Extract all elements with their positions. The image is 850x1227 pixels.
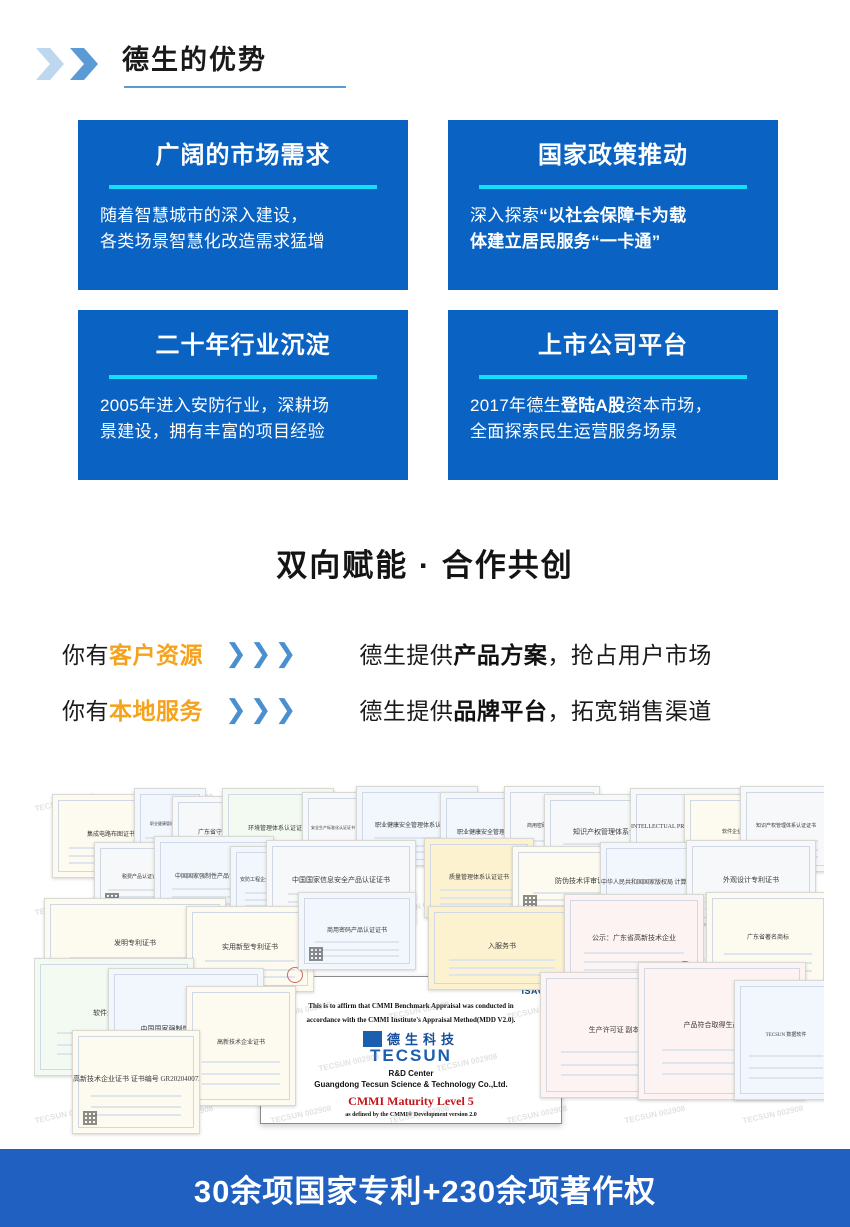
certificate-caption: 入服务书 xyxy=(429,941,575,951)
advantage-card-market-demand: 广阔的市场需求 随着智慧城市的深入建设， 各类场景智慧化改造需求猛增 xyxy=(78,120,408,290)
synergy-row-right: 德生提供产品方案，抢占用户市场 xyxy=(359,636,712,670)
synergy-left-prefix: 你有 xyxy=(62,642,109,668)
card-body-plain: 深入探索 xyxy=(470,206,539,225)
synergy-left-highlight: 客户资源 xyxy=(109,642,203,668)
certificate-caption: 实用新型专利证书 xyxy=(187,942,313,952)
advantage-card-listed-company: 上市公司平台 2017年德生登陆A股资本市场， 全面探索民生运营服务场景 xyxy=(448,310,778,480)
qr-code-icon xyxy=(309,947,323,961)
card-body-line: 各类场景智慧化改造需求猛增 xyxy=(100,229,386,255)
triple-chevron-icon: ❯❯❯ xyxy=(225,638,299,669)
card-divider xyxy=(109,375,377,379)
certificate-thumbnail: 商用密码产品认证证书 xyxy=(298,892,416,970)
certificate-text-line xyxy=(749,1067,822,1069)
arrow-glyph: ❯❯❯ xyxy=(225,638,299,669)
certificate-text-line xyxy=(440,903,518,905)
cmmi-unit: R&D Center xyxy=(270,1069,552,1078)
card-body-line: 2017年德生登陆A股资本市场， xyxy=(470,393,756,419)
certificate-caption: 高新技术企业证书 xyxy=(187,1037,295,1046)
synergy-right-suffix: ，拓宽销售渠道 xyxy=(547,698,712,724)
certificate-collage: 集成电路布图证书职业健康管理体系认证广东省守合同重信用企业环境管理体系认证证书安… xyxy=(34,780,824,1138)
certificate-thumbnail: 高新技术企业证书 证书编号 GR202040072 xyxy=(72,1030,200,1134)
certificate-text-line xyxy=(91,1114,182,1116)
synergy-right-prefix: 德生提供 xyxy=(359,698,453,724)
card-body-plain: 资本市场， xyxy=(625,396,712,415)
synergy-left-prefix: 你有 xyxy=(62,698,109,724)
watermark-text: TECSUN 002908 xyxy=(742,1104,804,1126)
synergy-row: 你有客户资源 ❯❯❯ 德生提供产品方案，抢占用户市场 xyxy=(0,625,850,681)
advantage-card-grid: 广阔的市场需求 随着智慧城市的深入建设， 各类场景智慧化改造需求猛增 国家政策推… xyxy=(78,120,778,480)
certificate-thumbnail: TECSUN 数据软件 xyxy=(734,980,824,1100)
chevron-right-light-icon xyxy=(36,46,66,82)
advantages-page: 德生的优势 广阔的市场需求 随着智慧城市的深入建设， 各类场景智慧化改造需求猛增… xyxy=(0,0,850,1227)
synergy-title: 双向赋能 · 合作共创 xyxy=(0,540,850,585)
certificate-text-line xyxy=(449,974,554,976)
page-title-wrap: 德生的优势 xyxy=(122,46,267,82)
certificate-text-line xyxy=(449,959,554,961)
certificate-text-line xyxy=(205,960,296,962)
certificate-caption: 商用密码产品认证证书 xyxy=(299,925,415,934)
card-body-emphasis: 登陆A股 xyxy=(561,396,625,415)
card-body-line: 深入探索“以社会保障卡为载 xyxy=(470,203,756,229)
card-title: 广阔的市场需求 xyxy=(156,142,331,170)
synergy-row-left: 你有客户资源 xyxy=(62,636,203,670)
certificate-caption: 广东省著名商标 xyxy=(707,932,824,941)
card-body-line: 景建设，拥有丰富的项目经验 xyxy=(100,419,386,445)
card-body-emphasis: “以社会保障卡为载 xyxy=(539,206,686,225)
tecsun-name-en: TECSUN xyxy=(270,1046,552,1066)
patent-banner-text: 30余项国家专利+230余项著作权 xyxy=(194,1166,656,1211)
certificate-caption: 外观设计专利证书 xyxy=(687,875,815,885)
card-divider xyxy=(109,185,377,189)
cmmi-as-defined: as defined by the CMMI® Development vers… xyxy=(270,1112,552,1118)
card-title: 国家政策推动 xyxy=(538,142,688,170)
cmmi-affirm-line-2: accordance with the CMMI Institute's App… xyxy=(270,1015,552,1025)
patent-banner: 30余项国家专利+230余项著作权 xyxy=(0,1149,850,1227)
certificate-text-line xyxy=(749,1077,822,1079)
certificate-text-line xyxy=(315,941,399,943)
synergy-right-prefix: 德生提供 xyxy=(359,642,453,668)
certificate-caption: 知识产权管理体系认证证书 xyxy=(741,822,824,829)
certificate-text-line xyxy=(584,952,683,954)
qr-code-icon xyxy=(83,1111,97,1125)
featured-certificate-cmmi: spid ISACA This is to affirm that CMMI B… xyxy=(260,976,562,1124)
advantage-card-national-policy: 国家政策推动 深入探索“以社会保障卡为载 体建立居民服务“一卡通” xyxy=(448,120,778,290)
certificate-caption: 安全生产标准化认证证书 xyxy=(303,825,363,831)
card-body: 深入探索“以社会保障卡为载 体建立居民服务“一卡通” xyxy=(470,203,756,256)
certificate-caption: 公示：广东省高新技术企业 xyxy=(565,933,703,943)
synergy-row-right: 德生提供品牌平台，拓宽销售渠道 xyxy=(359,692,712,726)
certificate-text-line xyxy=(202,1061,280,1063)
card-body-line: 随着智慧城市的深入建设， xyxy=(100,203,386,229)
card-body: 2017年德生登陆A股资本市场， 全面探索民生运营服务场景 xyxy=(470,393,756,446)
synergy-left-highlight: 本地服务 xyxy=(109,698,203,724)
watermark-text: TECSUN 002908 xyxy=(624,1104,686,1126)
card-body-line: 2005年进入安防行业，深耕场 xyxy=(100,393,386,419)
section-header: 德生的优势 xyxy=(0,34,850,94)
certificate-text-line xyxy=(91,1106,182,1108)
advantage-card-industry-experience: 二十年行业沉淀 2005年进入安防行业，深耕场 景建设，拥有丰富的项目经验 xyxy=(78,310,408,480)
card-body-plain: 2017年德生 xyxy=(470,396,561,415)
card-divider xyxy=(479,375,747,379)
synergy-right-suffix: ，抢占用户市场 xyxy=(547,642,712,668)
triple-chevron-icon: ❯❯❯ xyxy=(225,694,299,725)
card-body-emphasis: 体建立居民服务“一卡通” xyxy=(470,232,661,251)
certificate-text-line xyxy=(440,897,518,899)
card-divider xyxy=(479,185,747,189)
certificate-text-line xyxy=(202,1073,280,1075)
synergy-right-bold: 产品方案 xyxy=(453,642,547,668)
card-body-line: 全面探索民生运营服务场景 xyxy=(470,419,756,445)
certificate-caption: 高新技术企业证书 证书编号 GR202040072 xyxy=(73,1074,199,1084)
certificate-text-line xyxy=(315,949,399,951)
cmmi-affirm-line-1: This is to affirm that CMMI Benchmark Ap… xyxy=(270,1001,552,1011)
card-body-line: 体建立居民服务“一卡通” xyxy=(470,229,756,255)
arrow-glyph: ❯❯❯ xyxy=(225,694,299,725)
synergy-rows: 你有客户资源 ❯❯❯ 德生提供产品方案，抢占用户市场 你有本地服务 ❯❯❯ 德生… xyxy=(0,625,850,737)
certificate-text-line xyxy=(724,953,812,955)
page-title: 德生的优势 xyxy=(122,46,267,76)
certificate-caption: 中国国家信息安全产品认证证书 xyxy=(267,875,415,885)
certificate-text-line xyxy=(315,955,399,957)
title-underline xyxy=(124,86,346,88)
certificate-text-line xyxy=(440,889,518,891)
chevron-right-dark-icon xyxy=(70,46,100,82)
certificate-text-line xyxy=(91,1095,182,1097)
certificate-text-line xyxy=(202,1083,280,1085)
certificate-thumbnail: 高新技术企业证书 xyxy=(186,986,296,1106)
chevron-pair-icon xyxy=(36,46,100,82)
certificate-text-line xyxy=(749,1055,822,1057)
synergy-row-left: 你有本地服务 xyxy=(62,692,203,726)
card-body: 2005年进入安防行业，深耕场 景建设，拥有丰富的项目经验 xyxy=(100,393,386,446)
certificate-caption: TECSUN 数据软件 xyxy=(735,1031,824,1038)
cmmi-maturity-level: CMMI Maturity Level 5 xyxy=(270,1094,552,1109)
card-title: 上市公司平台 xyxy=(538,332,688,360)
cmmi-legal-name: Guangdong Tecsun Science & Technology Co… xyxy=(270,1080,552,1089)
cmmi-certification-date: Certification Date : June 30, 2021 xyxy=(270,1123,552,1124)
tecsun-logo-mark xyxy=(363,1031,382,1047)
card-body: 随着智慧城市的深入建设， 各类场景智慧化改造需求猛增 xyxy=(100,203,386,256)
synergy-row: 你有本地服务 ❯❯❯ 德生提供品牌平台，拓宽销售渠道 xyxy=(0,681,850,737)
card-title: 二十年行业沉淀 xyxy=(156,332,331,360)
certificate-text-line xyxy=(449,967,554,969)
synergy-right-bold: 品牌平台 xyxy=(453,698,547,724)
